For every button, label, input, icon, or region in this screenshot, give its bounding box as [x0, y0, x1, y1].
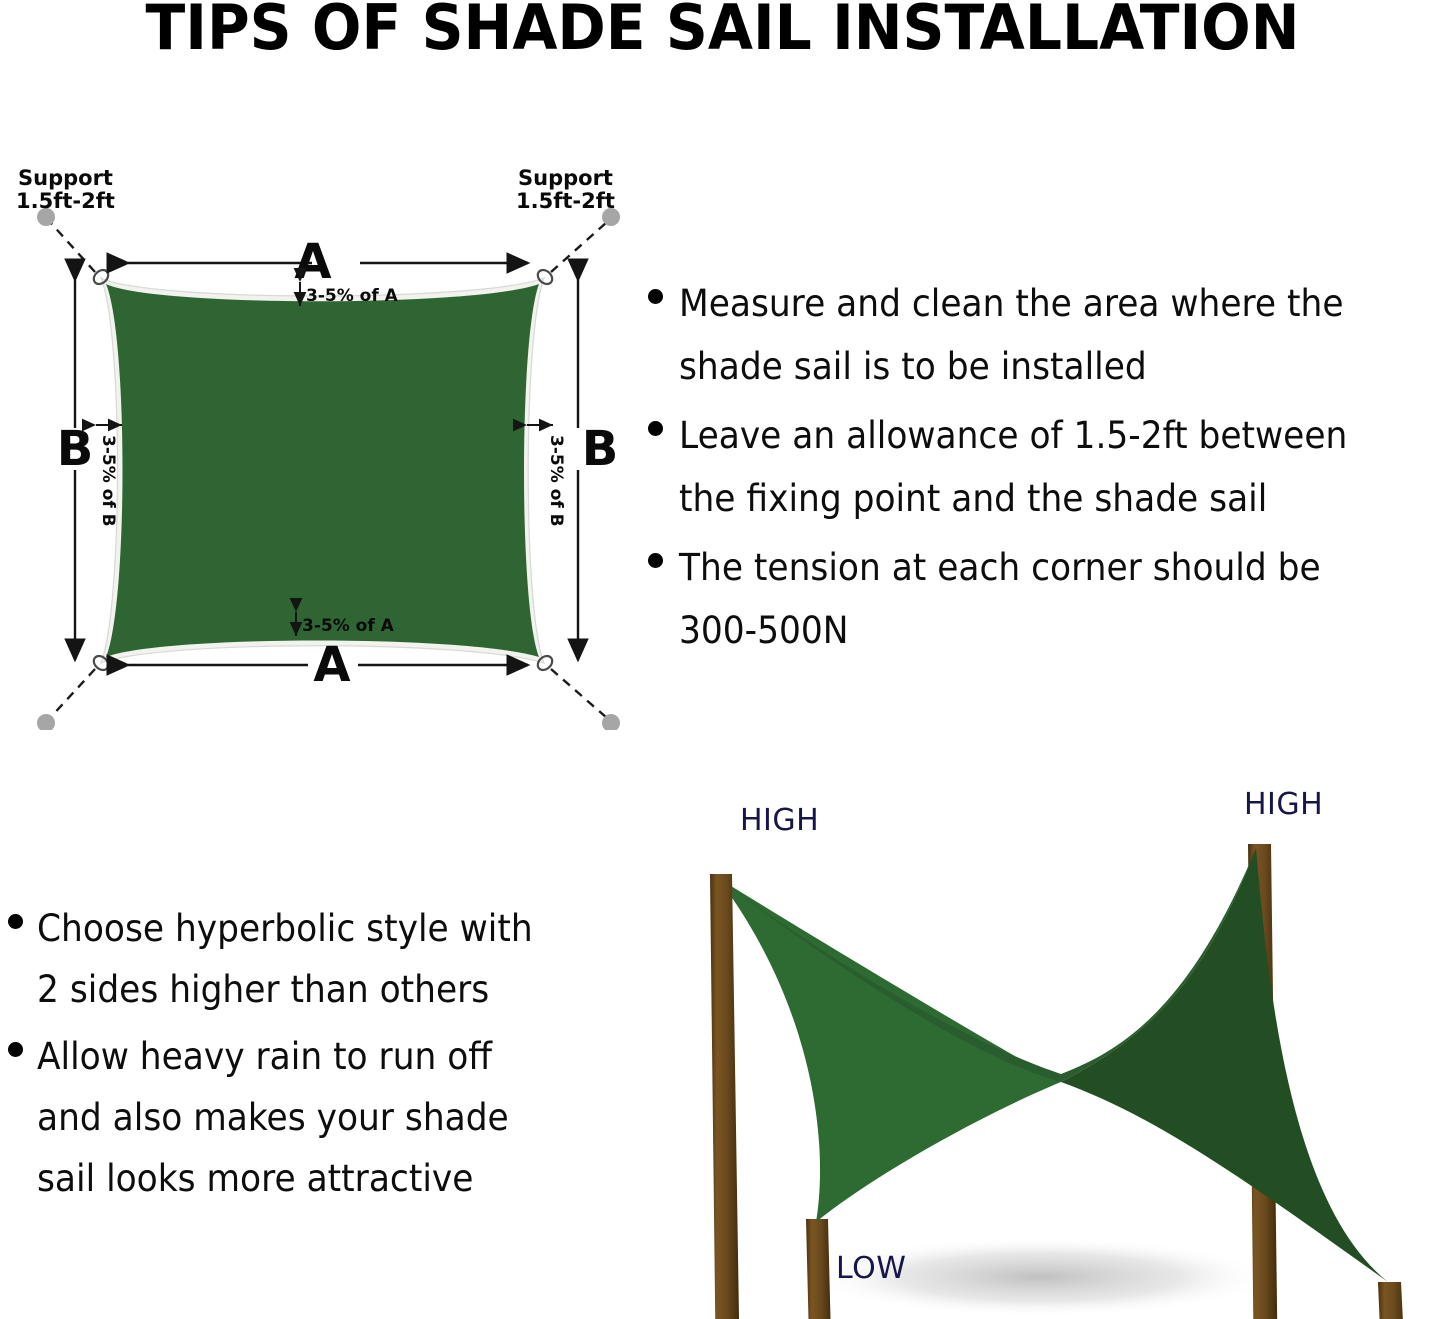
list-item: Leave an allowance of 1.5-2ft between th… [648, 404, 1445, 530]
list-item-text: The tension at each corner should be 300… [679, 536, 1321, 662]
installation-tips-list-bottom: Choose hyperbolic style with 2 sides hig… [8, 898, 628, 1215]
curve-allowance-a-bottom: 3-5% of A [296, 612, 395, 636]
curve-allowance-b-left: 3-5% of B [96, 425, 122, 527]
support-label-line1: Support [18, 166, 113, 190]
rectangular-sail-diagram: Support 1.5ft-2ft Support 1.5ft-2ft Supp… [0, 160, 640, 730]
curve-allowance-b-right: 3-5% of B [527, 425, 566, 527]
curve-allowance-a-bottom-label: 3-5% of A [302, 616, 395, 636]
hyperbolic-sail-shape [718, 848, 1388, 1282]
label-low-left: LOW [836, 1251, 906, 1286]
list-item-text: Choose hyperbolic style with 2 sides hig… [37, 898, 533, 1020]
bullet-dot-icon [648, 289, 663, 304]
sail-shape [101, 278, 544, 663]
list-item: Measure and clean the area where the sha… [648, 272, 1445, 398]
curve-allowance-a-top: 3-5% of A [300, 282, 399, 306]
dimension-a-bottom-label: A [313, 637, 350, 693]
dimension-a-top: A [128, 234, 528, 290]
label-high-left: HIGH [740, 803, 819, 838]
dimension-a-top-label: A [294, 234, 331, 290]
list-item-text: Allow heavy rain to run off and also mak… [37, 1026, 509, 1209]
post-low-right [1378, 1282, 1407, 1319]
hyperbolic-sail-diagram: HIGH HIGH LOW LOW [688, 782, 1445, 1319]
dimension-b-left-label: B [57, 421, 94, 477]
list-item-text: Leave an allowance of 1.5-2ft between th… [679, 404, 1347, 530]
label-high-right: HIGH [1244, 787, 1323, 822]
post-low-left [806, 1219, 832, 1319]
page-title: TIPS OF SHADE SAIL INSTALLATION [43, 0, 1401, 60]
list-item: Choose hyperbolic style with 2 sides hig… [8, 898, 628, 1020]
dimension-b-left: B [57, 280, 94, 660]
support-label-line2: 1.5ft-2ft [16, 189, 115, 213]
curve-allowance-a-top-label: 3-5% of A [306, 286, 399, 306]
post-high-left [710, 874, 740, 1319]
support-label-line1: Support [518, 166, 613, 190]
bullet-dot-icon [648, 553, 663, 568]
list-item: Allow heavy rain to run off and also mak… [8, 1026, 628, 1209]
support-label-top-left: Support 1.5ft-2ft [16, 166, 115, 213]
list-item: The tension at each corner should be 300… [648, 536, 1445, 662]
bullet-dot-icon [648, 421, 663, 436]
dimension-b-right: B [578, 280, 618, 660]
curve-allowance-b-left-label: 3-5% of B [98, 435, 118, 527]
bullet-dot-icon [8, 1042, 23, 1057]
support-label-line2: 1.5ft-2ft [516, 189, 615, 213]
list-item-text: Measure and clean the area where the sha… [679, 272, 1344, 398]
dimension-b-right-label: B [582, 421, 619, 477]
support-label-top-right: Support 1.5ft-2ft [516, 166, 615, 213]
installation-tips-list-top: Measure and clean the area where the sha… [648, 272, 1445, 668]
bullet-dot-icon [8, 914, 23, 929]
curve-allowance-b-right-label: 3-5% of B [546, 435, 566, 527]
